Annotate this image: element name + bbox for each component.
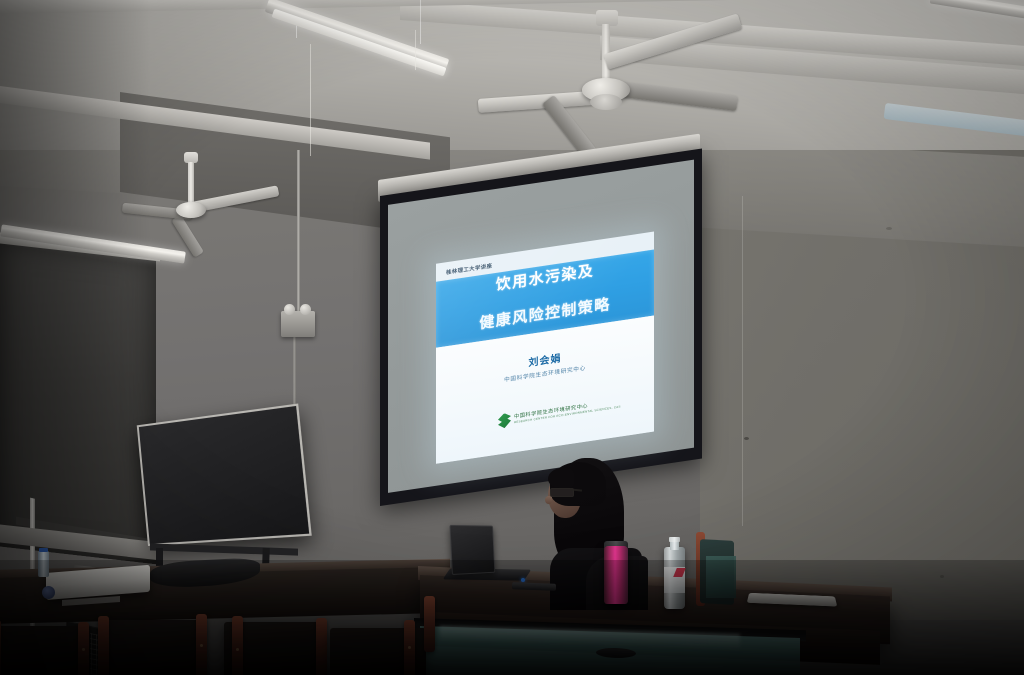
ceiling-fan-rear [158, 152, 288, 244]
foreground-shadow [0, 560, 1024, 675]
emergency-light-lamp-right [300, 304, 311, 315]
blackboard [137, 403, 312, 546]
lecture-room-photo: 桂林理工大学讲座 饮用水污染及 健康风险控制策略 刘会娟 中国科学院生态环境研究… [0, 0, 1024, 675]
institution-emblem-icon [498, 412, 511, 429]
wall-mark-3 [886, 227, 892, 230]
fan-hub-cap [590, 94, 622, 110]
fan-rear-down-rod [188, 162, 194, 206]
light-hanger-2 [420, 0, 421, 44]
wall-mark-1 [744, 437, 749, 440]
emergency-light [281, 311, 315, 337]
light-pull-cord-3[interactable] [742, 196, 743, 526]
light-pull-cord-1[interactable] [310, 44, 311, 156]
ceiling-fan-front [540, 8, 770, 138]
emergency-light-lamp-left [284, 304, 295, 315]
presenter-profile-nose [545, 496, 552, 504]
fan-blade-upper-right [604, 13, 743, 69]
fan-rear-hub [176, 202, 206, 218]
wall-conduit [297, 150, 300, 315]
presenter-fringe [548, 468, 574, 488]
screen-surface: 桂林理工大学讲座 饮用水污染及 健康风险控制策略 刘会娟 中国科学院生态环境研究… [388, 160, 694, 493]
projected-slide: 桂林理工大学讲座 饮用水污染及 健康风险控制策略 刘会娟 中国科学院生态环境研究… [436, 232, 654, 464]
light-pull-cord-2[interactable] [415, 30, 416, 70]
water-bottle-cap[interactable] [669, 537, 680, 542]
left-corner-shadow [0, 0, 150, 675]
